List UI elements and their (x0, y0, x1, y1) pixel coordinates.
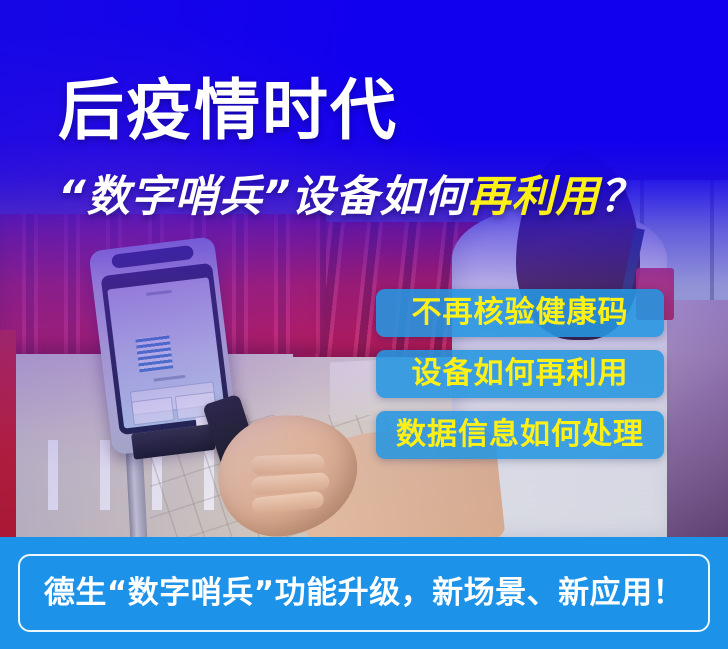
subtitle-highlight: 再利用 (467, 172, 599, 222)
feature-pill-list: 不再核验健康码 设备如何再利用 数据信息如何处理 (376, 289, 668, 472)
feature-pill-3-label: 数据信息如何处理 (396, 420, 644, 450)
feature-pill-1-label: 不再核验健康码 (412, 298, 629, 328)
page-subtitle: “数字哨兵”设备如何再利用？ (58, 176, 643, 219)
page-title: 后疫情时代 (58, 78, 398, 144)
feature-pill-1[interactable]: 不再核验健康码 (376, 289, 664, 337)
subtitle-tail: ？ (599, 172, 643, 222)
feature-pill-3[interactable]: 数据信息如何处理 (376, 411, 664, 459)
bottom-banner-frame: 德生“数字哨兵”功能升级，新场景、新应用！ (18, 554, 710, 632)
poster-root: 后疫情时代 “数字哨兵”设备如何再利用？ 不再核验健康码 设备如何再利用 数据信… (0, 0, 728, 649)
subtitle-lead: “数字哨兵”设备如何 (58, 172, 467, 222)
feature-pill-2[interactable]: 设备如何再利用 (376, 350, 664, 398)
bottom-banner-text: 德生“数字哨兵”功能升级，新场景、新应用！ (44, 578, 684, 609)
feature-pill-2-label: 设备如何再利用 (412, 359, 629, 389)
bottom-banner: 德生“数字哨兵”功能升级，新场景、新应用！ (0, 537, 728, 649)
